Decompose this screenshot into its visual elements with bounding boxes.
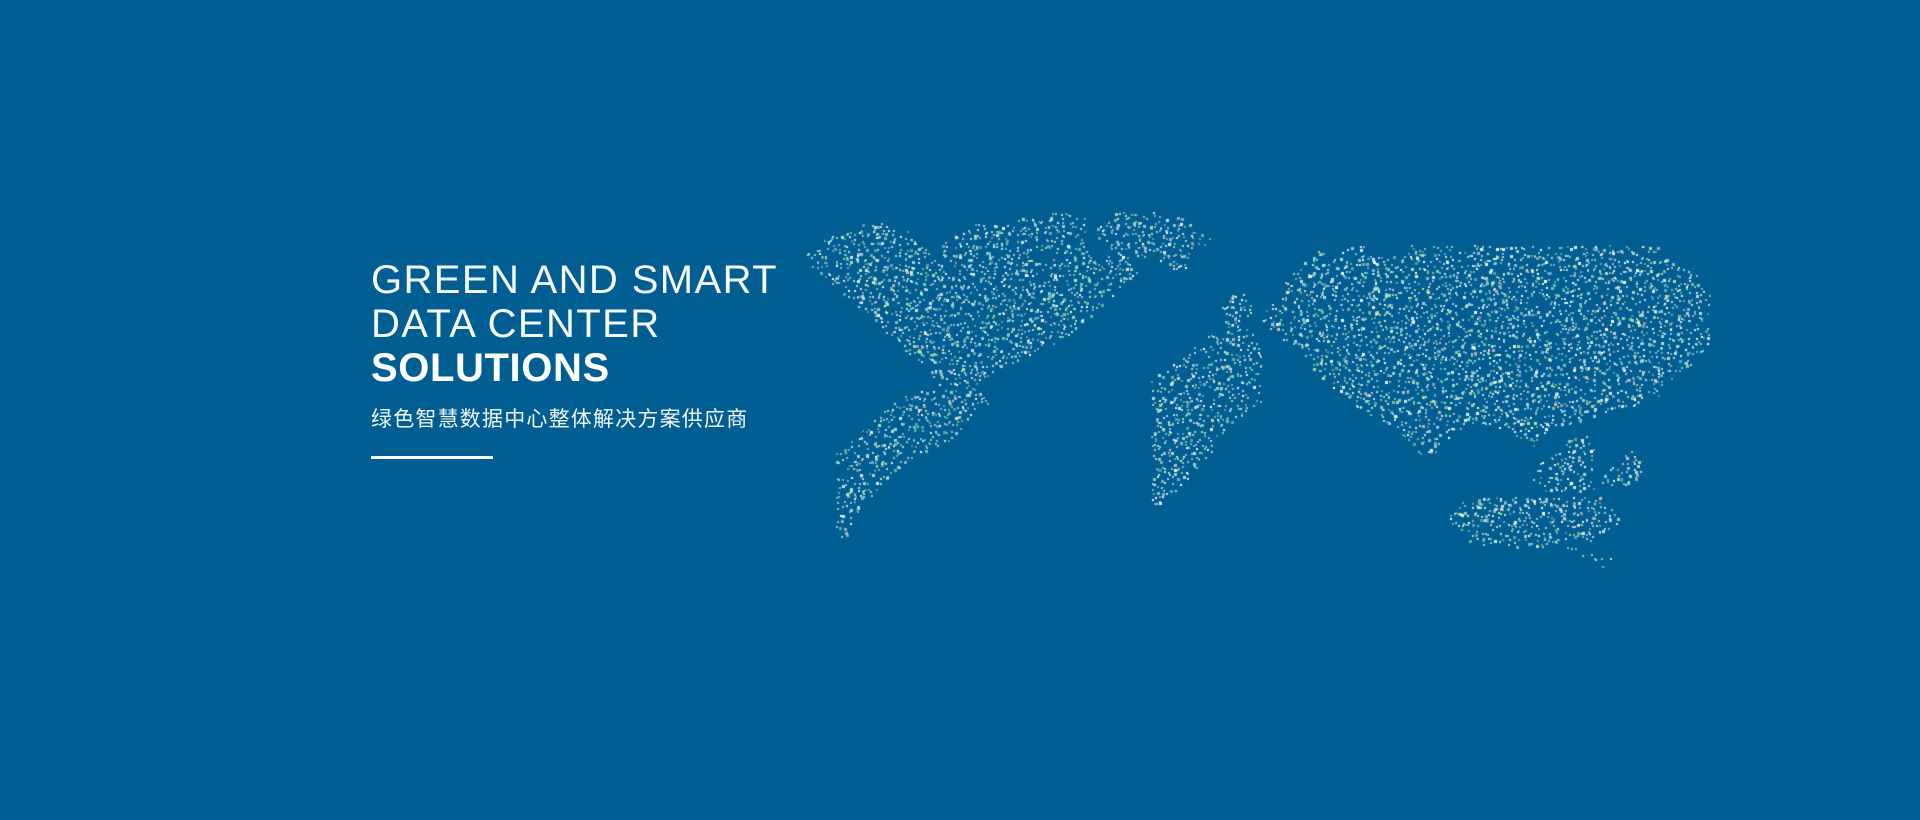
headline-line-2: DATA CENTER <box>371 302 1131 346</box>
subtitle: 绿色智慧数据中心整体解决方案供应商 <box>371 406 1131 434</box>
headline-block: GREEN AND SMART DATA CENTER SOLUTIONS 绿色… <box>371 258 1131 459</box>
hero-banner: GREEN AND SMART DATA CENTER SOLUTIONS 绿色… <box>0 0 1920 820</box>
headline-line-1: GREEN AND SMART <box>371 258 1131 302</box>
accent-rule <box>371 456 493 459</box>
headline-line-3: SOLUTIONS <box>371 346 1131 390</box>
